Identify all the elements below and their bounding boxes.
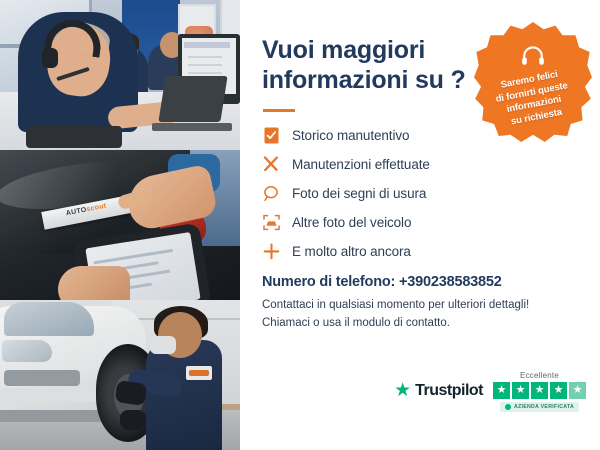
list-item-label: Foto dei segni di usura xyxy=(292,186,426,201)
page-title-line-1: Vuoi maggiori xyxy=(262,36,425,64)
rating-star-icon: ★ xyxy=(550,382,567,399)
magnifier-icon xyxy=(262,184,280,202)
photo-tint-overlay xyxy=(0,300,240,450)
verified-business-label: AZIENDA VERIFICATA xyxy=(514,404,574,410)
headset-icon xyxy=(521,45,545,72)
photo-strip: AUTOscout xyxy=(0,0,240,450)
trustpilot-star-icon: ★ xyxy=(394,381,411,400)
list-item-label: Manutenzioni effettuate xyxy=(292,157,430,172)
list-item: Manutenzioni effettuate xyxy=(262,155,576,173)
rating-star-icon: ★ xyxy=(512,382,529,399)
list-item-label: Altre foto del veicolo xyxy=(292,215,411,230)
trustpilot-block[interactable]: ★ Trustpilot Eccellente ★ ★ ★ ★ ★ AZIEND… xyxy=(394,371,586,412)
photo-vehicle-inspection-with-tablet: AUTOscout xyxy=(0,150,240,300)
trustpilot-brand-name: Trustpilot xyxy=(415,382,483,400)
phone-label: Numero di telefono: xyxy=(262,274,395,290)
list-item: E molto altro ancora xyxy=(262,242,576,260)
contact-subtext-line-2: Chiamaci o usa il modulo di contatto. xyxy=(262,317,450,329)
tools-cross-icon xyxy=(262,155,280,173)
contact-subtext: Contattaci in qualsiasi momento per ulte… xyxy=(262,297,576,333)
rating-star-icon: ★ xyxy=(493,382,510,399)
rating-star-half-icon: ★ xyxy=(569,382,586,399)
title-divider xyxy=(263,109,295,112)
list-item: Altre foto del veicolo xyxy=(262,213,576,231)
phone-number[interactable]: +390238583852 xyxy=(399,274,502,290)
list-item: Foto dei segni di usura xyxy=(262,184,576,202)
verified-check-icon xyxy=(505,404,511,410)
page-title: Vuoi maggiori informazioni su ? xyxy=(262,36,482,95)
contact-info-poster: AUTOscout xyxy=(0,0,600,450)
page-title-line-2: informazioni su ? xyxy=(262,66,466,94)
photo-mechanic-servicing-wheel xyxy=(0,300,240,450)
list-item-label: Storico manutentivo xyxy=(292,128,409,143)
verified-business-badge: AZIENDA VERIFICATA xyxy=(500,402,579,412)
callout-badge: Saremo felici di fornirti queste informa… xyxy=(474,22,592,142)
document-check-icon xyxy=(262,126,280,144)
trustpilot-rating-label: Eccellente xyxy=(520,371,559,380)
contact-subtext-line-1: Contattaci in qualsiasi momento per ulte… xyxy=(262,299,529,311)
phone-number-line: Numero di telefono: +390238583852 xyxy=(262,274,576,290)
feature-list: Storico manutentivo Manutenzioni effettu… xyxy=(262,126,576,260)
trustpilot-logo[interactable]: ★ Trustpilot xyxy=(394,371,483,400)
photo-tint-overlay xyxy=(0,150,240,300)
plus-icon xyxy=(262,242,280,260)
trustpilot-star-rating: ★ ★ ★ ★ ★ xyxy=(493,382,586,399)
list-item-label: E molto altro ancora xyxy=(292,244,411,259)
trustpilot-rating-group: Eccellente ★ ★ ★ ★ ★ AZIENDA VERIFICATA xyxy=(493,371,586,412)
content-panel: Vuoi maggiori informazioni su ? Storico … xyxy=(240,0,600,450)
photo-call-center-agents-with-headsets xyxy=(0,0,240,150)
rating-star-icon: ★ xyxy=(531,382,548,399)
car-scan-icon xyxy=(262,213,280,231)
photo-tint-overlay xyxy=(0,0,240,150)
